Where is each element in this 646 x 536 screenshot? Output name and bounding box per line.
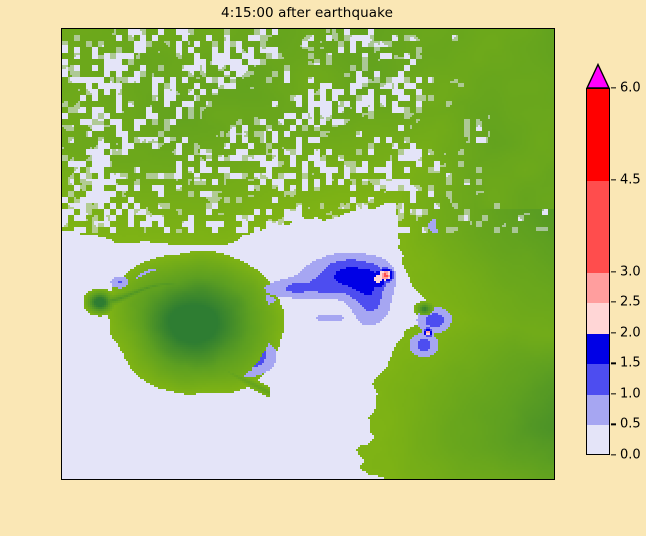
- colorbar-tick-mark: [611, 271, 616, 272]
- x-tick-mark: [444, 479, 445, 480]
- colorbar-gradient: [586, 88, 610, 455]
- colorbar-tick-mark: [611, 179, 616, 180]
- x-tick-mark: [359, 479, 360, 480]
- x-tick-mark: [189, 479, 190, 480]
- colorbar-extend-arrow-icon: [586, 63, 610, 89]
- colorbar[interactable]: 0.00.51.01.52.02.53.04.56.0: [586, 63, 612, 455]
- y-tick-mark: [61, 48, 62, 49]
- colorbar-tick-label: 6.0: [620, 81, 641, 96]
- colorbar-tick-mark: [611, 454, 616, 455]
- colorbar-tick-label: 2.5: [620, 295, 641, 310]
- y-tick-mark: [61, 181, 62, 182]
- colorbar-tick-label: 4.5: [620, 172, 641, 187]
- colorbar-tick-label: 3.0: [620, 264, 641, 279]
- colorbar-band: [587, 303, 609, 334]
- colorbar-band: [587, 334, 609, 365]
- colorbar-tick-mark: [611, 332, 616, 333]
- colorbar-tick-mark: [611, 363, 616, 364]
- inundation-raster: [62, 29, 554, 479]
- y-tick-mark: [61, 114, 62, 115]
- figure-canvas: 4:15:00 after earthquake 49.2049.1549.10…: [0, 0, 646, 536]
- y-tick-mark: [61, 445, 62, 446]
- colorbar-tick-mark: [611, 301, 616, 302]
- page-title: 4:15:00 after earthquake: [61, 5, 553, 21]
- y-tick-mark: [61, 379, 62, 380]
- colorbar-tick-label: 0.5: [620, 417, 641, 432]
- colorbar-band: [587, 181, 609, 273]
- y-tick-mark: [61, 313, 62, 314]
- colorbar-tick-label: 1.5: [620, 356, 641, 371]
- colorbar-tick-label: 2.0: [620, 325, 641, 340]
- colorbar-band: [587, 395, 609, 426]
- x-tick-mark: [104, 479, 105, 480]
- colorbar-tick-label: 0.0: [620, 448, 641, 463]
- y-tick-mark: [61, 247, 62, 248]
- colorbar-tick-label: 1.0: [620, 386, 641, 401]
- colorbar-band: [587, 89, 609, 181]
- colorbar-band: [587, 273, 609, 304]
- colorbar-band: [587, 425, 609, 455]
- colorbar-tick-mark: [611, 87, 616, 88]
- colorbar-band: [587, 364, 609, 395]
- x-tick-mark: [529, 479, 530, 480]
- x-tick-mark: [274, 479, 275, 480]
- colorbar-tick-mark: [611, 424, 616, 425]
- colorbar-tick-mark: [611, 393, 616, 394]
- map-axes[interactable]: 49.2049.1549.1049.0549.0048.9548.90−123.…: [61, 28, 555, 480]
